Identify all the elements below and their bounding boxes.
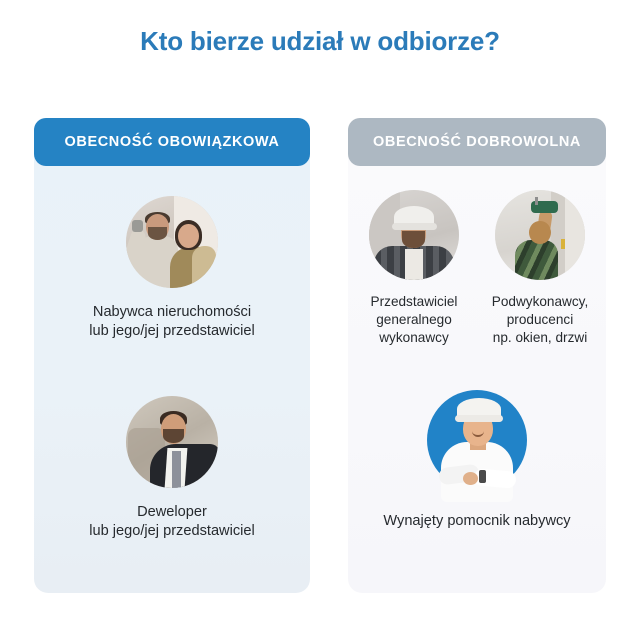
businessman-developer-photo: [126, 396, 218, 488]
couple-with-keys-photo: [126, 196, 218, 288]
page-title: Kto bierze udział w odbiorze?: [0, 26, 640, 57]
infographic-root: Kto bierze udział w odbiorze? OBECNOŚĆ O…: [0, 0, 640, 619]
contractor-hardhat-photo: [369, 190, 459, 280]
caption-line: np. okien, drzwi: [478, 329, 602, 347]
caption-line: generalnego: [354, 311, 474, 329]
subcontractor-drill-photo: [495, 190, 585, 280]
caption-line: Wynajęty pomocnik nabywcy: [348, 512, 606, 531]
caption-line: wykonawcy: [354, 329, 474, 347]
caption-line: Nabywca nieruchomości: [34, 303, 310, 322]
panel-optional: OBECNOŚĆ DOBROWOLNA Przedstawiciel gener…: [348, 118, 606, 593]
panel-optional-header: OBECNOŚĆ DOBROWOLNA: [348, 118, 606, 166]
list-item-hired-helper: Wynajęty pomocnik nabywcy: [348, 390, 606, 531]
caption-line: lub jego/jej przedstawiciel: [34, 322, 310, 341]
panel-mandatory: OBECNOŚĆ OBOWIĄZKOWA Nabywca nieruchomoś…: [34, 118, 310, 593]
list-item-buyer: Nabywca nieruchomości lub jego/jej przed…: [34, 196, 310, 341]
panel-mandatory-header: OBECNOŚĆ OBOWIĄZKOWA: [34, 118, 310, 166]
caption-line: producenci: [478, 311, 602, 329]
caption-line: Deweloper: [34, 503, 310, 522]
hired-helper-photo: [419, 390, 535, 498]
caption-line: lub jego/jej przedstawiciel: [34, 522, 310, 541]
list-item-developer: Deweloper lub jego/jej przedstawiciel: [34, 396, 310, 541]
caption-line: Podwykonawcy,: [478, 293, 602, 311]
caption-line: Przedstawiciel: [354, 293, 474, 311]
list-item-subcontractors: Podwykonawcy, producenci np. okien, drzw…: [478, 190, 602, 347]
list-item-general-contractor: Przedstawiciel generalnego wykonawcy: [354, 190, 474, 347]
